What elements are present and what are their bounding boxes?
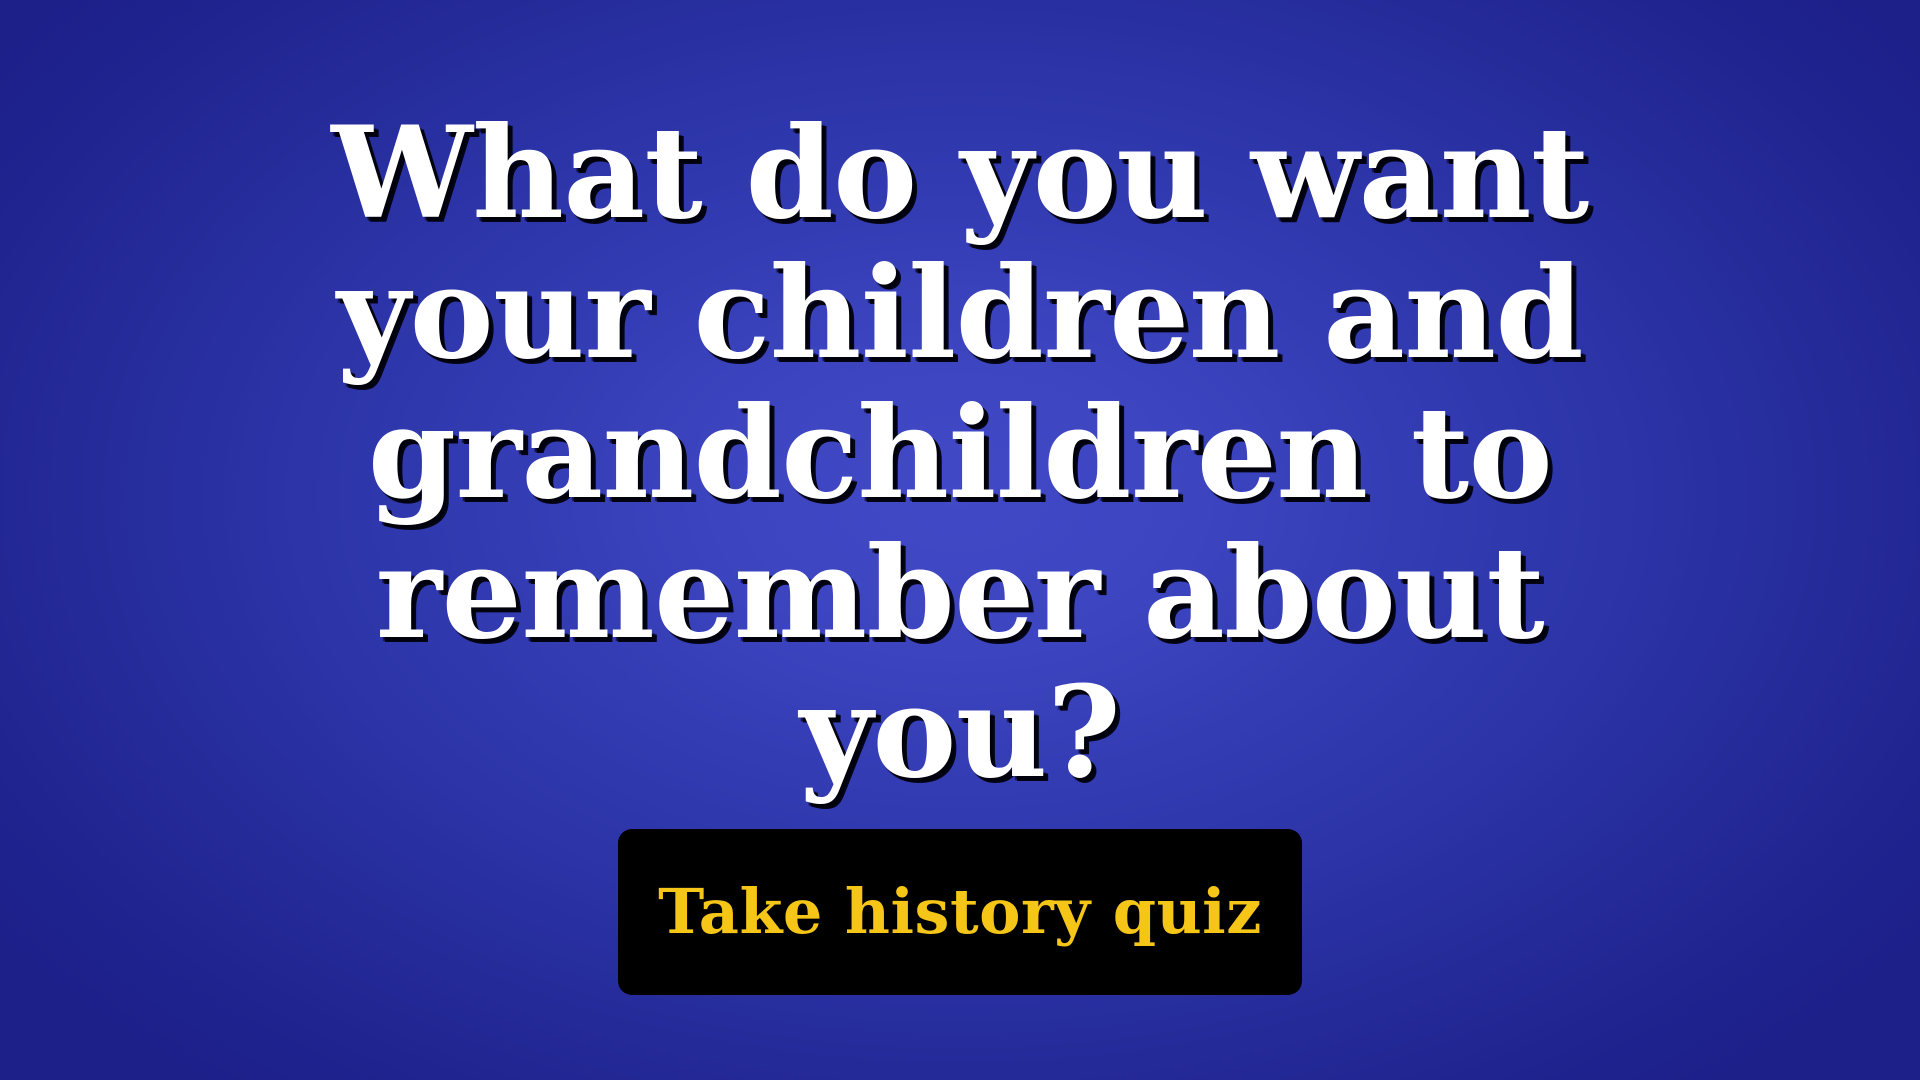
page-title: What do you want your children and grand… [198, 104, 1722, 803]
take-history-quiz-button-label: Take history quiz [658, 881, 1262, 943]
question-slide: What do you want your children and grand… [0, 0, 1920, 1080]
take-history-quiz-button[interactable]: Take history quiz [618, 829, 1302, 995]
headline-container: What do you want your children and grand… [198, 104, 1722, 803]
cta-container: Take history quiz [0, 829, 1920, 995]
